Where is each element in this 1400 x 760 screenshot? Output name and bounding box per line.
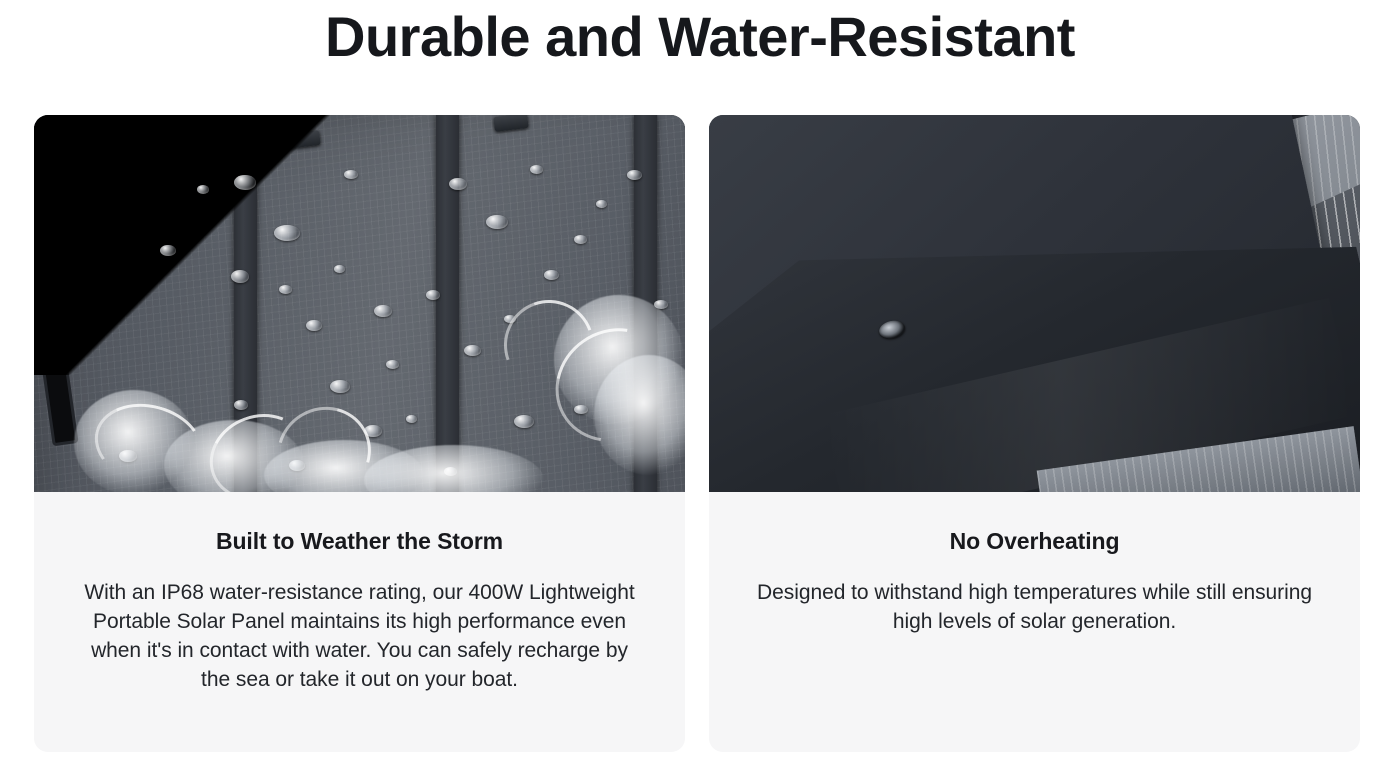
water-droplet — [574, 235, 587, 244]
water-droplet — [596, 200, 607, 208]
water-droplet — [231, 270, 249, 283]
panel-seam — [436, 115, 459, 492]
water-droplet — [160, 245, 176, 256]
water-droplet — [279, 285, 292, 294]
water-droplet — [406, 415, 417, 423]
folded-panel-image — [709, 115, 1360, 492]
section-heading: Durable and Water-Resistant — [0, 0, 1400, 74]
water-droplet — [514, 415, 534, 428]
card-body: Built to Weather the Storm With an IP68 … — [34, 492, 685, 752]
water-droplet — [330, 380, 350, 393]
water-droplet — [334, 265, 345, 273]
feature-card[interactable]: No Overheating Designed to withstand hig… — [709, 115, 1360, 752]
card-description: Designed to withstand high temperatures … — [755, 578, 1315, 636]
card-title: Built to Weather the Storm — [76, 526, 643, 556]
water-droplet — [627, 170, 642, 180]
water-droplet — [306, 320, 322, 331]
card-description: With an IP68 water-resistance rating, ou… — [80, 578, 640, 694]
water-droplet — [486, 215, 508, 229]
card-title: No Overheating — [751, 526, 1318, 556]
water-droplet — [464, 345, 481, 356]
water-droplet — [449, 178, 467, 190]
water-droplet — [344, 170, 358, 179]
water-droplet — [544, 270, 559, 280]
background-shadow — [34, 115, 334, 375]
water-droplet — [530, 165, 543, 174]
feature-card-grid: Built to Weather the Storm With an IP68 … — [34, 115, 1360, 752]
card-body: No Overheating Designed to withstand hig… — [709, 492, 1360, 752]
water-droplet — [234, 175, 256, 190]
water-droplet — [386, 360, 399, 369]
feature-card[interactable]: Built to Weather the Storm With an IP68 … — [34, 115, 685, 752]
water-splash-image — [34, 115, 685, 492]
water-droplet — [374, 305, 392, 317]
water-droplet — [274, 225, 300, 241]
water-droplet — [197, 185, 209, 194]
feature-section: Durable and Water-Resistant — [0, 0, 1400, 760]
water-droplet — [234, 400, 248, 410]
water-droplet — [426, 290, 440, 300]
